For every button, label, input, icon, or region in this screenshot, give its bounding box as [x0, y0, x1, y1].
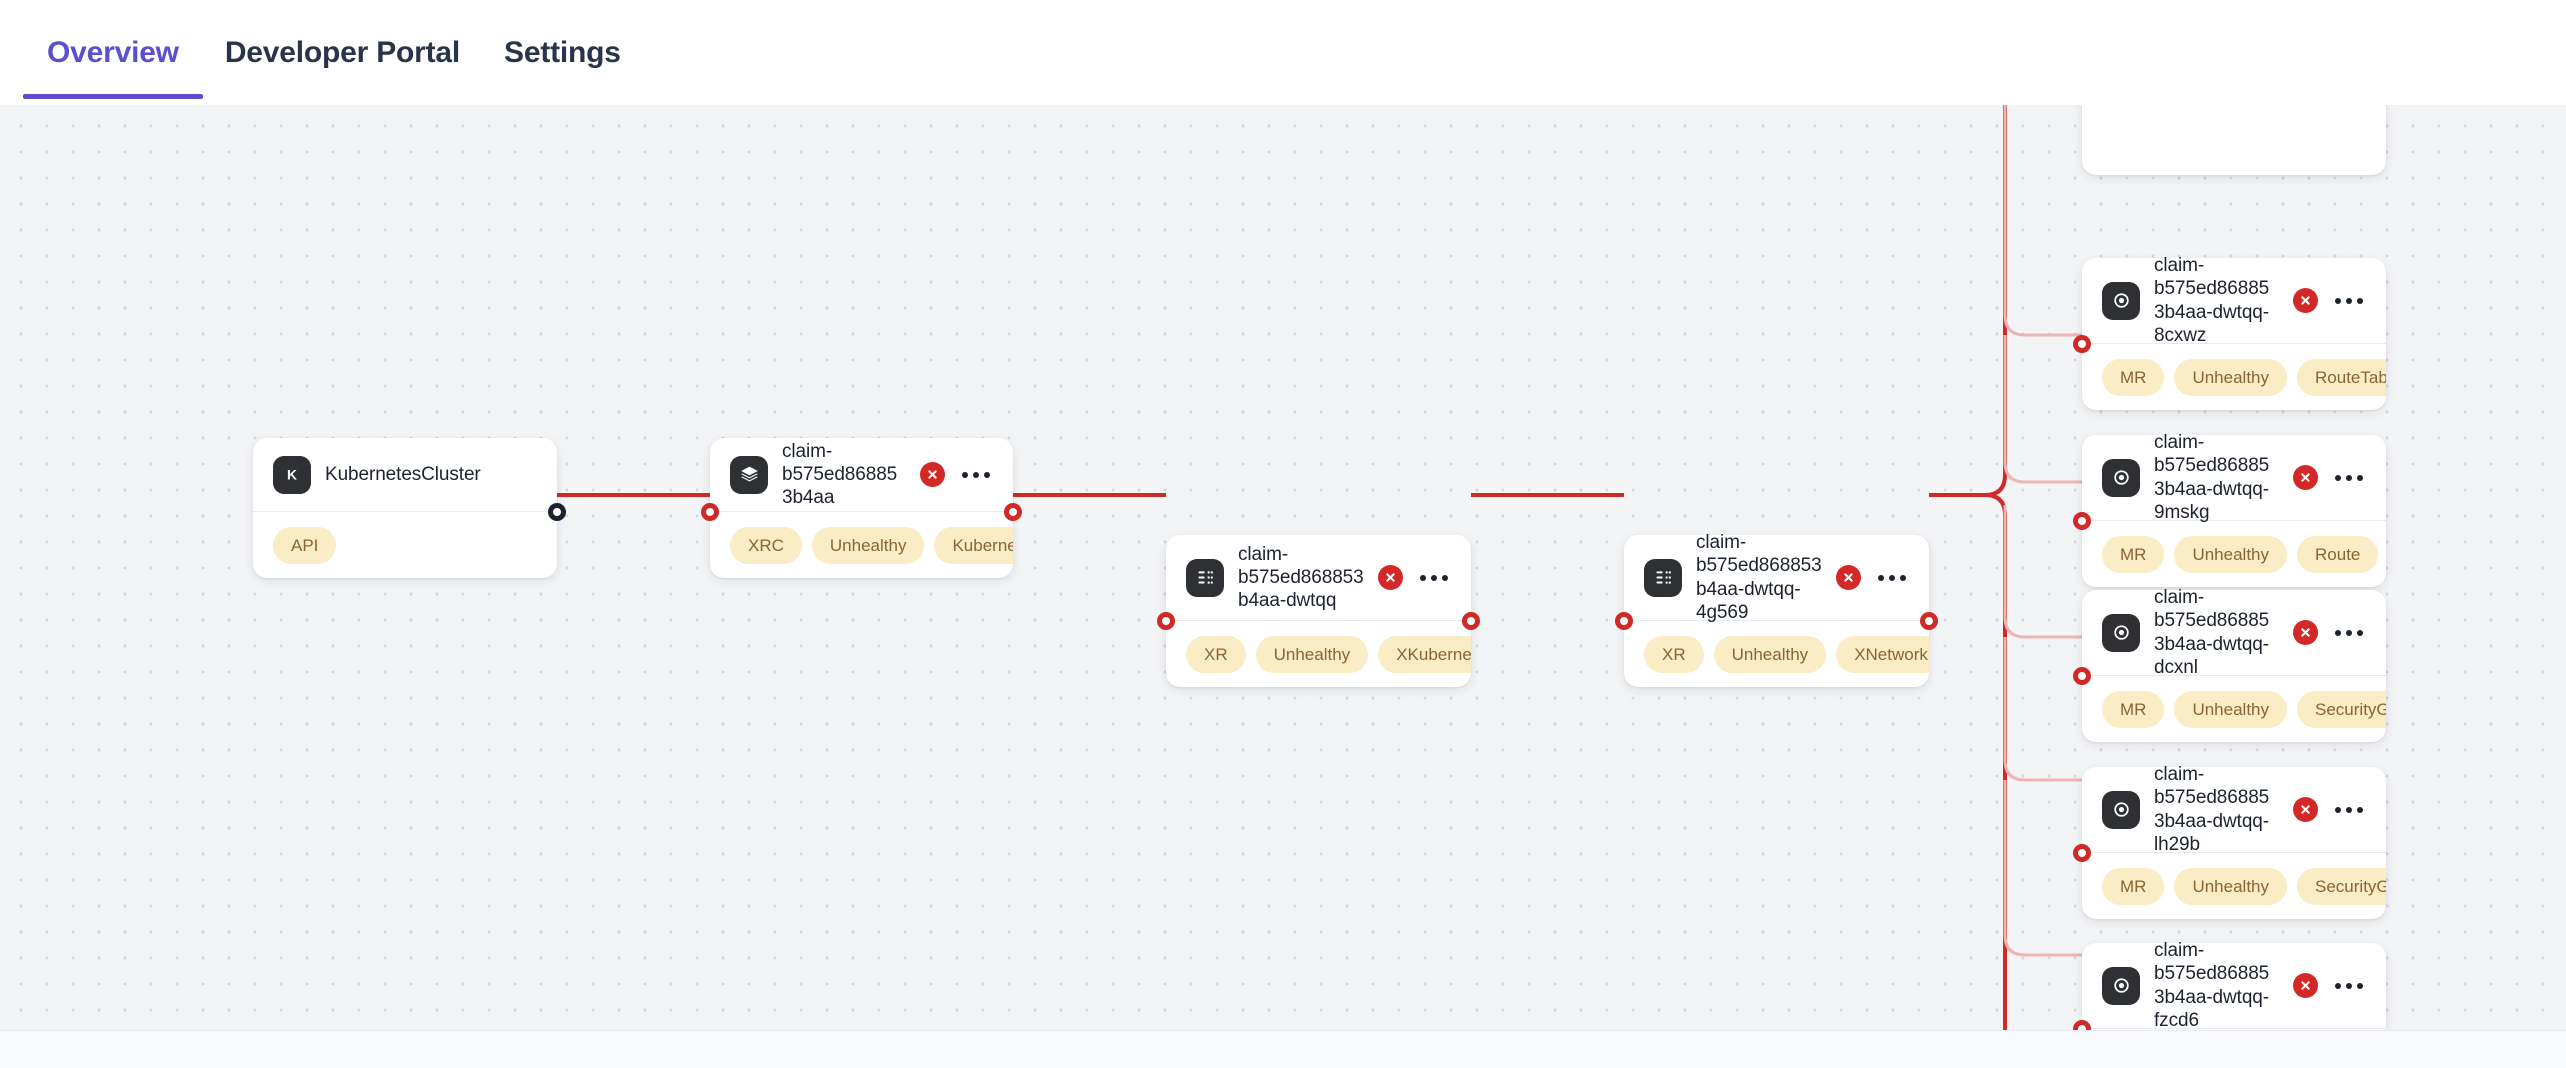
node-tag-list: XR Unhealthy XKubernetesCluster [1166, 621, 1471, 687]
tag-type: XKubernetesCluster [1378, 636, 1471, 673]
tab-overview[interactable]: Overview [23, 0, 203, 105]
node-menu-button[interactable] [2332, 622, 2366, 644]
node-menu-button[interactable] [2332, 467, 2366, 489]
tag-status: Unhealthy [2174, 868, 2287, 905]
status-error-icon [2293, 620, 2318, 645]
tag-kind: API [273, 527, 336, 564]
node-handle-right[interactable] [1004, 503, 1022, 521]
svg-text:K: K [287, 467, 297, 482]
tag-kind: MR [2102, 691, 2164, 728]
tab-developer-portal-label: Developer Portal [225, 36, 460, 70]
node-title: claim-b575ed868853b4aa-dwtqq-8cxwz [2154, 254, 2279, 347]
node-mr-fzcd6[interactable]: claim-b575ed868853b4aa-dwtqq-fzcd6 MR Un… [2082, 943, 2386, 1030]
tag-type: SecurityGroupRule [2297, 691, 2386, 728]
status-error-icon [1378, 565, 1403, 590]
tag-status: Unhealthy [812, 527, 925, 564]
node-header: claim-b575ed868853b4aa-dwtqq-4g569 [1624, 535, 1929, 621]
node-handle-left[interactable] [2073, 844, 2091, 862]
node-title: KubernetesCluster [325, 463, 537, 486]
node-title: claim-b575ed868853b4aa-dwtqq-dcxnl [2154, 586, 2279, 679]
edge-branch-9mskg [2005, 335, 2082, 482]
node-handle-left[interactable] [2073, 667, 2091, 685]
tag-kind: MR [2102, 359, 2164, 396]
node-title: claim-b575ed868853b4aa-dwtqq [1238, 543, 1364, 613]
tag-type: Route [2297, 536, 2378, 573]
node-tag-list: XRC Unhealthy KubernetesCluster [710, 512, 1013, 578]
node-header: claim-b575ed868853b4aa-dwtqq [1166, 535, 1471, 621]
node-handle-right[interactable] [548, 503, 566, 521]
node-header: claim-b575ed868853b4aa-dwtqq-lh29b [2082, 767, 2386, 853]
node-tag-list: MR Unhealthy RouteTable [2082, 344, 2386, 410]
node-title: claim-b575ed868853b4aa-dwtqq-lh29b [2154, 763, 2279, 856]
node-menu-button[interactable] [2332, 975, 2366, 997]
tag-type: XNetwork [1836, 636, 1929, 673]
canvas-footer-bar [0, 1030, 2566, 1068]
node-handle-right[interactable] [1920, 612, 1938, 630]
node-handle-left[interactable] [2073, 512, 2091, 530]
tab-overview-label: Overview [47, 36, 179, 70]
node-header: K KubernetesCluster [253, 438, 557, 512]
node-claim[interactable]: claim-b575ed868853b4aa XRC Unhealthy Kub… [710, 438, 1013, 578]
tag-status: Unhealthy [2174, 359, 2287, 396]
node-title: claim-b575ed868853b4aa [782, 440, 906, 510]
edge-trunk-down [1929, 495, 2005, 1030]
graph-canvas[interactable]: K KubernetesCluster API cl [0, 105, 2566, 1030]
tag-status: Unhealthy [1714, 636, 1827, 673]
tab-settings[interactable]: Settings [482, 0, 643, 105]
list-icon [1186, 559, 1224, 597]
resource-graph-page: Overview Developer Portal Settings [0, 0, 2566, 1068]
tag-type: RouteTable [2297, 359, 2386, 396]
node-title: claim-b575ed868853b4aa-dwtqq-4g569 [1696, 531, 1822, 624]
node-handle-left[interactable] [701, 503, 719, 521]
node-tag-list: MR Unhealthy SecurityGroupRule [2082, 853, 2386, 919]
edge-branch-lh29b [2005, 637, 2082, 780]
status-error-icon [1836, 565, 1861, 590]
tag-kind: XR [1644, 636, 1704, 673]
node-menu-button[interactable] [959, 464, 993, 486]
node-menu-button[interactable] [1417, 567, 1451, 589]
node-handle-right[interactable] [1462, 612, 1480, 630]
tag-kind: MR [2102, 536, 2164, 573]
node-header: claim-b575ed868853b4aa-dwtqq-dcxnl [2082, 590, 2386, 676]
tag-type: KubernetesCluster [934, 527, 1013, 564]
tag-kind: XRC [730, 527, 802, 564]
target-icon [2102, 791, 2140, 829]
node-tag-list: API [253, 512, 557, 578]
tag-status: Unhealthy [2174, 536, 2287, 573]
status-error-icon [2293, 973, 2318, 998]
status-error-icon [920, 462, 945, 487]
target-icon [2102, 967, 2140, 1005]
node-tag-list: XR Unhealthy XNetwork [1624, 621, 1929, 687]
node-mr-lh29b[interactable]: claim-b575ed868853b4aa-dwtqq-lh29b MR Un… [2082, 767, 2386, 919]
node-handle-left[interactable] [1615, 612, 1633, 630]
node-mr-9mskg[interactable]: claim-b575ed868853b4aa-dwtqq-9mskg MR Un… [2082, 435, 2386, 587]
edge-branch-fzcd6 [2005, 780, 2082, 955]
node-xr-dwtqq[interactable]: claim-b575ed868853b4aa-dwtqq XR Unhealth… [1166, 535, 1471, 687]
tag-status: Unhealthy [2174, 691, 2287, 728]
status-error-icon [2293, 288, 2318, 313]
edge-branch-8cxwz [2005, 105, 2082, 335]
node-mr-dcxnl[interactable]: claim-b575ed868853b4aa-dwtqq-dcxnl MR Un… [2082, 590, 2386, 742]
target-icon [2102, 459, 2140, 497]
layers-icon [730, 456, 768, 494]
top-tab-bar: Overview Developer Portal Settings [0, 0, 2566, 105]
node-managed-resource-partial-top[interactable] [2082, 105, 2386, 175]
tag-kind: XR [1186, 636, 1246, 673]
node-menu-button[interactable] [2332, 290, 2366, 312]
target-icon [2102, 614, 2140, 652]
tag-kind: MR [2102, 868, 2164, 905]
node-menu-button[interactable] [2332, 799, 2366, 821]
node-header: claim-b575ed868853b4aa-dwtqq-fzcd6 [2082, 943, 2386, 1029]
tag-status: Unhealthy [1256, 636, 1369, 673]
node-title: claim-b575ed868853b4aa-dwtqq-fzcd6 [2154, 939, 2279, 1030]
node-tag-list [2082, 109, 2386, 175]
kubernetes-k-icon: K [273, 456, 311, 494]
node-tag-list: MR Unhealthy Route [2082, 521, 2386, 587]
tag-type: SecurityGroupRule [2297, 868, 2386, 905]
node-mr-8cxwz[interactable]: claim-b575ed868853b4aa-dwtqq-8cxwz MR Un… [2082, 258, 2386, 410]
node-header: claim-b575ed868853b4aa-dwtqq-8cxwz [2082, 258, 2386, 344]
node-handle-left[interactable] [2073, 335, 2091, 353]
node-handle-left[interactable] [1157, 612, 1175, 630]
tab-active-indicator [23, 94, 203, 99]
target-icon [2102, 282, 2140, 320]
node-tag-list: MR Unhealthy SecurityGroupRule [2082, 676, 2386, 742]
status-error-icon [2293, 797, 2318, 822]
node-menu-button[interactable] [1875, 567, 1909, 589]
node-header: claim-b575ed868853b4aa [710, 438, 1013, 512]
list-icon [1644, 559, 1682, 597]
edge-branch-dcxnl [2005, 505, 2082, 637]
node-kubernetes-cluster[interactable]: K KubernetesCluster API [253, 438, 557, 578]
tab-developer-portal[interactable]: Developer Portal [203, 0, 482, 105]
node-header: claim-b575ed868853b4aa-dwtqq-9mskg [2082, 435, 2386, 521]
edge-trunk-up [1929, 105, 2005, 495]
status-error-icon [2293, 465, 2318, 490]
node-xr-xnetwork[interactable]: claim-b575ed868853b4aa-dwtqq-4g569 XR Un… [1624, 535, 1929, 687]
node-title: claim-b575ed868853b4aa-dwtqq-9mskg [2154, 431, 2279, 524]
tab-settings-label: Settings [504, 36, 621, 70]
